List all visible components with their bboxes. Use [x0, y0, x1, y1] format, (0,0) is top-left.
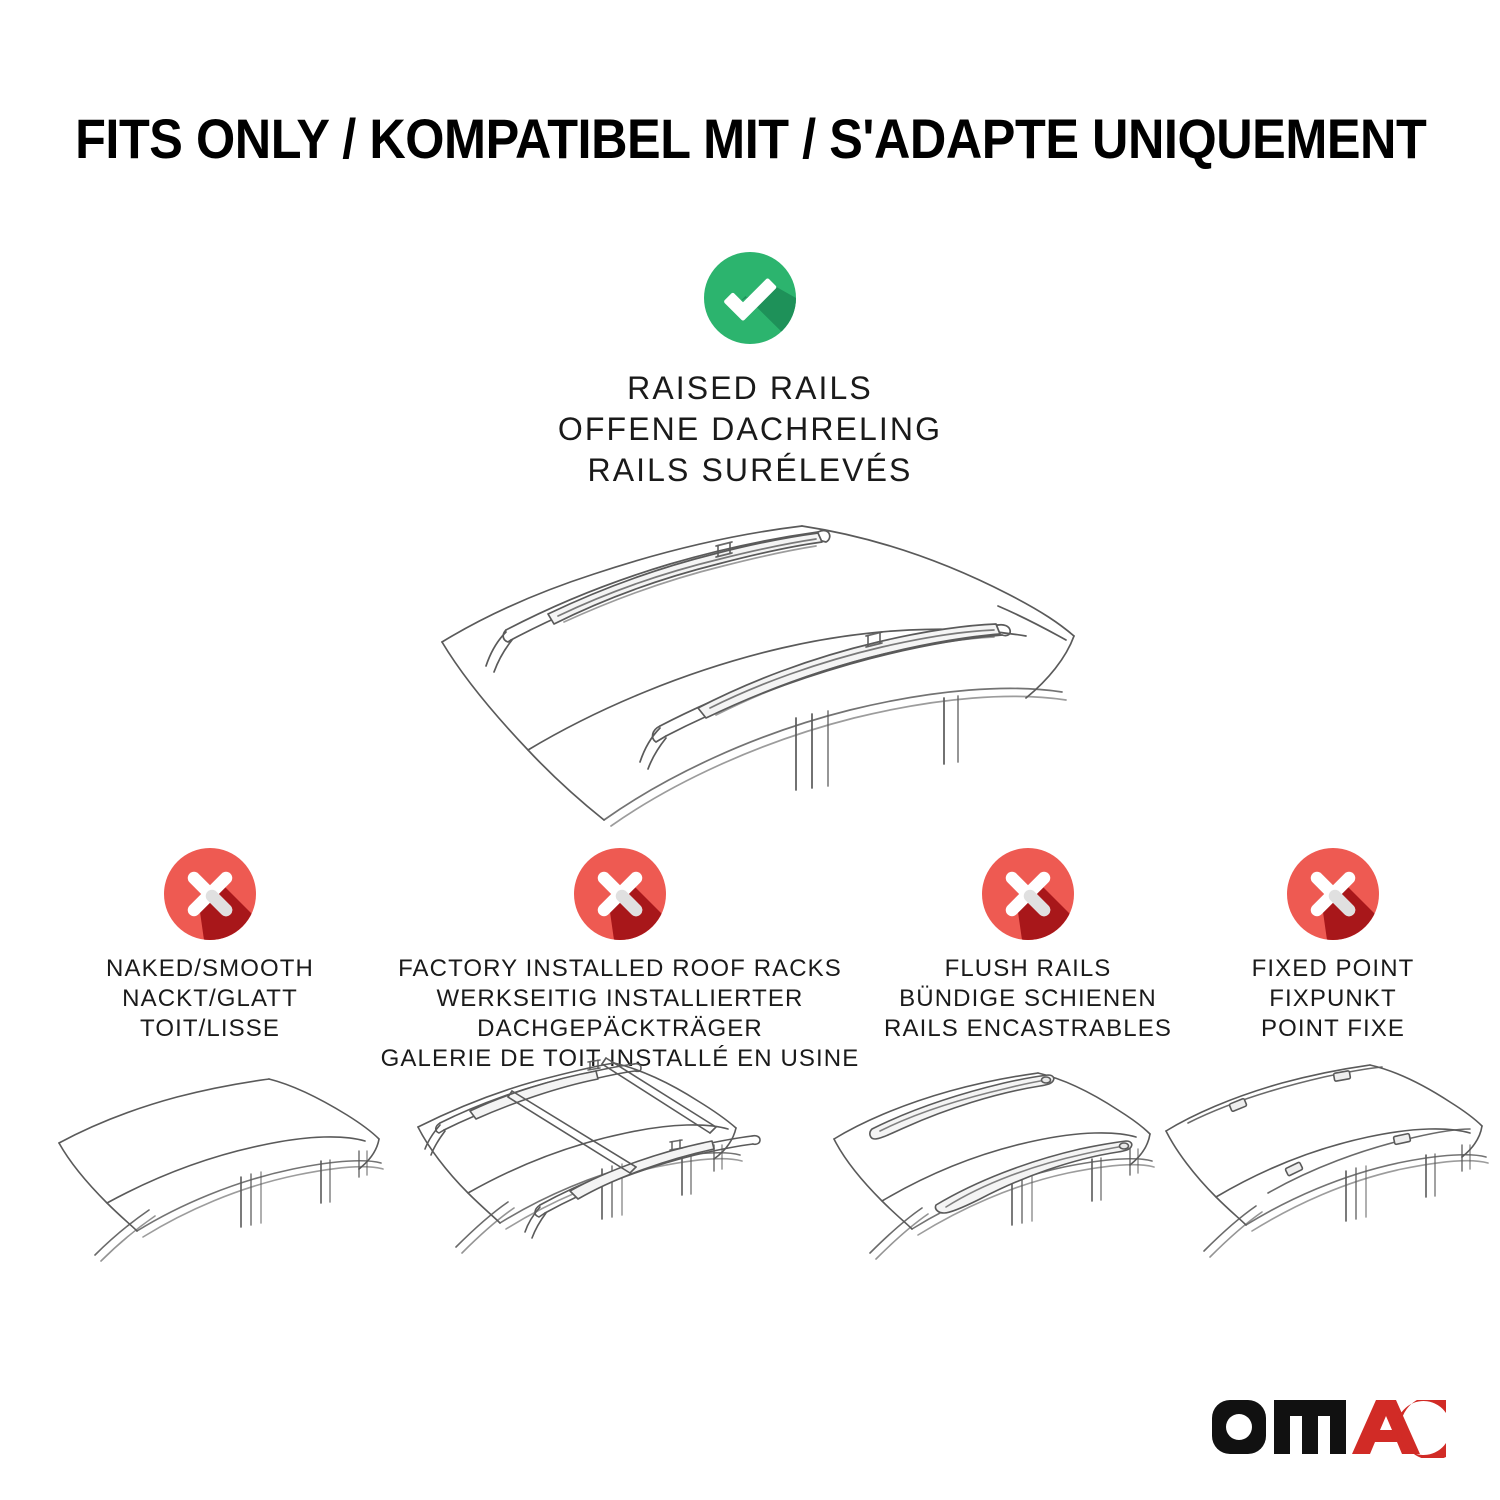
car-roof-factory-racks-illustration — [400, 1055, 800, 1305]
cross-circle-icon — [574, 848, 666, 940]
cross-circle-icon — [982, 848, 1074, 940]
incompatible-column-flush-rails: FLUSH RAILS BÜNDIGE SCHIENEN RAILS ENCAS… — [853, 848, 1203, 1044]
incompatible-label-de-2: DACHGEPÄCKTRÄGER — [370, 1014, 870, 1044]
car-roof-raised-rails-illustration — [398, 512, 1102, 832]
compatible-label-group: RAISED RAILS OFFENE DACHRELING RAILS SUR… — [0, 368, 1500, 491]
incompatible-section: NAKED/SMOOTH NACKT/GLATT TOIT/LISSE FACT… — [0, 848, 1500, 1058]
car-roof-flush-rails-illustration — [828, 1055, 1183, 1305]
incompatible-column-factory-racks: FACTORY INSTALLED ROOF RACKS WERKSEITIG … — [370, 848, 870, 1074]
incompatible-label-group: NAKED/SMOOTH NACKT/GLATT TOIT/LISSE — [30, 954, 390, 1044]
car-roof-naked-smooth-illustration — [55, 1055, 415, 1305]
compatible-label-fr: RAILS SURÉLEVÉS — [0, 450, 1500, 491]
page-title: FITS ONLY / KOMPATIBEL MIT / S'ADAPTE UN… — [75, 106, 1426, 172]
incompatible-label-de: NACKT/GLATT — [30, 984, 390, 1014]
compatible-label-de: OFFENE DACHRELING — [0, 409, 1500, 450]
incompatible-label-en: NAKED/SMOOTH — [30, 954, 390, 984]
cross-circle-icon — [1287, 848, 1379, 940]
check-circle-icon — [704, 252, 796, 344]
incompatible-label-en: FIXED POINT — [1183, 954, 1483, 984]
incompatible-label-fr: TOIT/LISSE — [30, 1014, 390, 1044]
compatible-label-en: RAISED RAILS — [0, 368, 1500, 409]
incompatible-column-fixed-point: FIXED POINT FIXPUNKT POINT FIXE — [1183, 848, 1483, 1044]
omac-logo — [1212, 1400, 1452, 1458]
incompatible-label-group: FIXED POINT FIXPUNKT POINT FIXE — [1183, 954, 1483, 1044]
incompatible-label-de: BÜNDIGE SCHIENEN — [853, 984, 1203, 1014]
incompatible-column-naked-smooth: NAKED/SMOOTH NACKT/GLATT TOIT/LISSE — [30, 848, 390, 1044]
compatible-section: RAISED RAILS OFFENE DACHRELING RAILS SUR… — [0, 252, 1500, 491]
incompatible-label-en: FLUSH RAILS — [853, 954, 1203, 984]
car-roof-fixed-point-illustration — [1158, 1055, 1500, 1305]
incompatible-label-group: FLUSH RAILS BÜNDIGE SCHIENEN RAILS ENCAS… — [853, 954, 1203, 1044]
incompatible-label-fr: RAILS ENCASTRABLES — [853, 1014, 1203, 1044]
cross-circle-icon — [164, 848, 256, 940]
incompatible-label-en: FACTORY INSTALLED ROOF RACKS — [370, 954, 870, 984]
incompatible-label-de-1: WERKSEITIG INSTALLIERTER — [370, 984, 870, 1014]
page-title-bar: FITS ONLY / KOMPATIBEL MIT / S'ADAPTE UN… — [0, 106, 1500, 172]
incompatible-illustrations — [0, 1055, 1500, 1305]
incompatible-label-de: FIXPUNKT — [1183, 984, 1483, 1014]
incompatible-label-fr: POINT FIXE — [1183, 1014, 1483, 1044]
